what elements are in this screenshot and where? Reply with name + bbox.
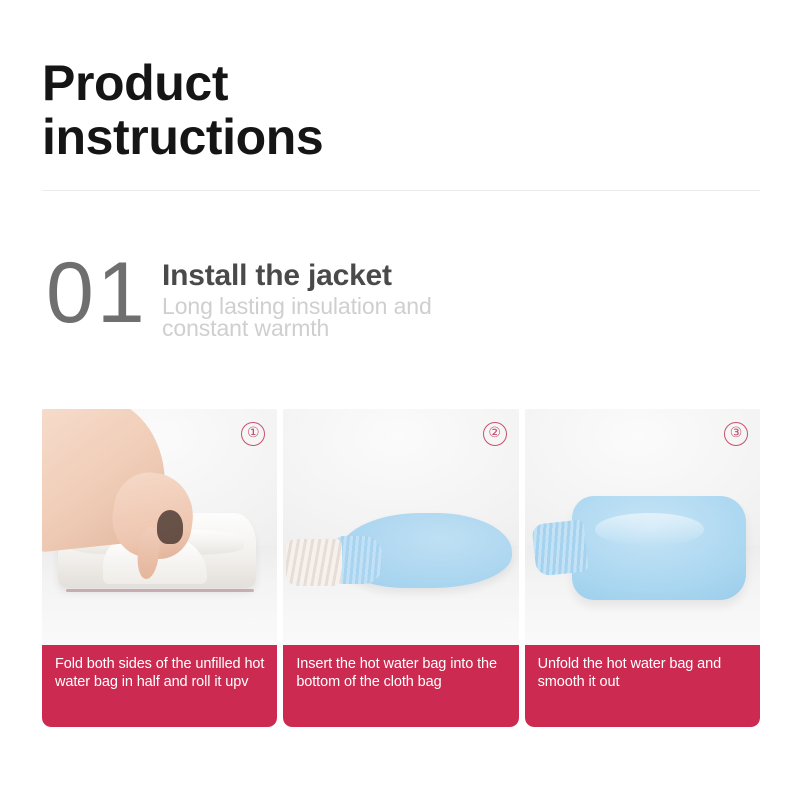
- page-title-line-1: Product: [42, 56, 762, 110]
- step-title: Install the jacket: [162, 260, 722, 292]
- step-subtitle-line-2: constant warmth: [162, 317, 722, 340]
- step-text-group: Install the jacket Long lasting insulati…: [162, 260, 722, 340]
- step-subtitle-line-1: Long lasting insulation and: [162, 295, 722, 318]
- panel-caption-3: Unfold the hot water bag and smooth it o…: [525, 645, 760, 727]
- step-heading-block: 01 Install the jacket Long lasting insul…: [46, 252, 746, 367]
- instruction-panels: ① Fold both sides of the unfilled hot wa…: [42, 409, 760, 727]
- instruction-panel-3[interactable]: ③ Unfold the hot water bag and smooth it…: [525, 409, 760, 727]
- page-title-line-2: instructions: [42, 110, 762, 164]
- instruction-panel-2[interactable]: ② Insert the hot water bag into the bott…: [283, 409, 518, 727]
- step-subtitle: Long lasting insulation and constant war…: [162, 295, 722, 340]
- product-instructions-page: Product instructions 01 Install the jack…: [0, 0, 800, 800]
- photo-insert-bag: ②: [283, 409, 518, 645]
- step-badge-3-icon: ③: [724, 422, 748, 446]
- header-divider: [42, 190, 760, 191]
- rolled-white-bag: [286, 539, 342, 586]
- step-badge-2-icon: ②: [483, 422, 507, 446]
- step-number: 01: [46, 250, 148, 336]
- instruction-panel-1[interactable]: ① Fold both sides of the unfilled hot wa…: [42, 409, 277, 727]
- panel-caption-1: Fold both sides of the unfilled hot wate…: [42, 645, 277, 727]
- page-title: Product instructions: [42, 56, 762, 164]
- cover-gathered-neck: [335, 536, 382, 583]
- step-badge-1-icon: ①: [241, 422, 265, 446]
- panel-caption-2: Insert the hot water bag into the bottom…: [283, 645, 518, 727]
- bottle-highlight: [595, 513, 703, 546]
- covered-bottle-neck: [531, 520, 588, 577]
- photo-finished-bottle: ③: [525, 409, 760, 645]
- thumb-shadow: [157, 510, 183, 543]
- bag-shadow-line: [66, 589, 254, 592]
- photo-fold-bag: ①: [42, 409, 277, 645]
- page-header: Product instructions: [42, 56, 762, 164]
- covered-bottle-body: [572, 496, 746, 600]
